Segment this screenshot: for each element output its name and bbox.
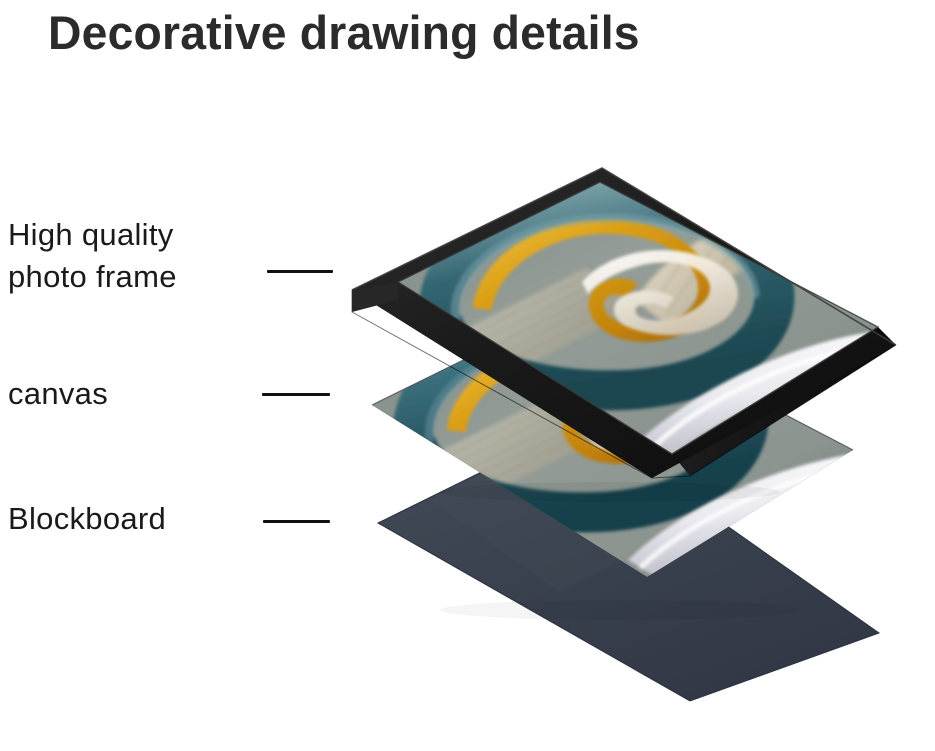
callout-label-blockboard: Blockboard (8, 498, 166, 540)
callout-label-photo-frame: High quality photo frame (8, 214, 177, 298)
callout-label-canvas: canvas (8, 373, 108, 415)
leader-line-photo-frame-icon (267, 270, 333, 273)
exploded-view-illustration (0, 0, 935, 751)
infographic-canvas: Decorative drawing details (0, 0, 935, 751)
leader-line-blockboard-icon (263, 520, 330, 523)
leader-line-canvas-icon (262, 393, 330, 396)
